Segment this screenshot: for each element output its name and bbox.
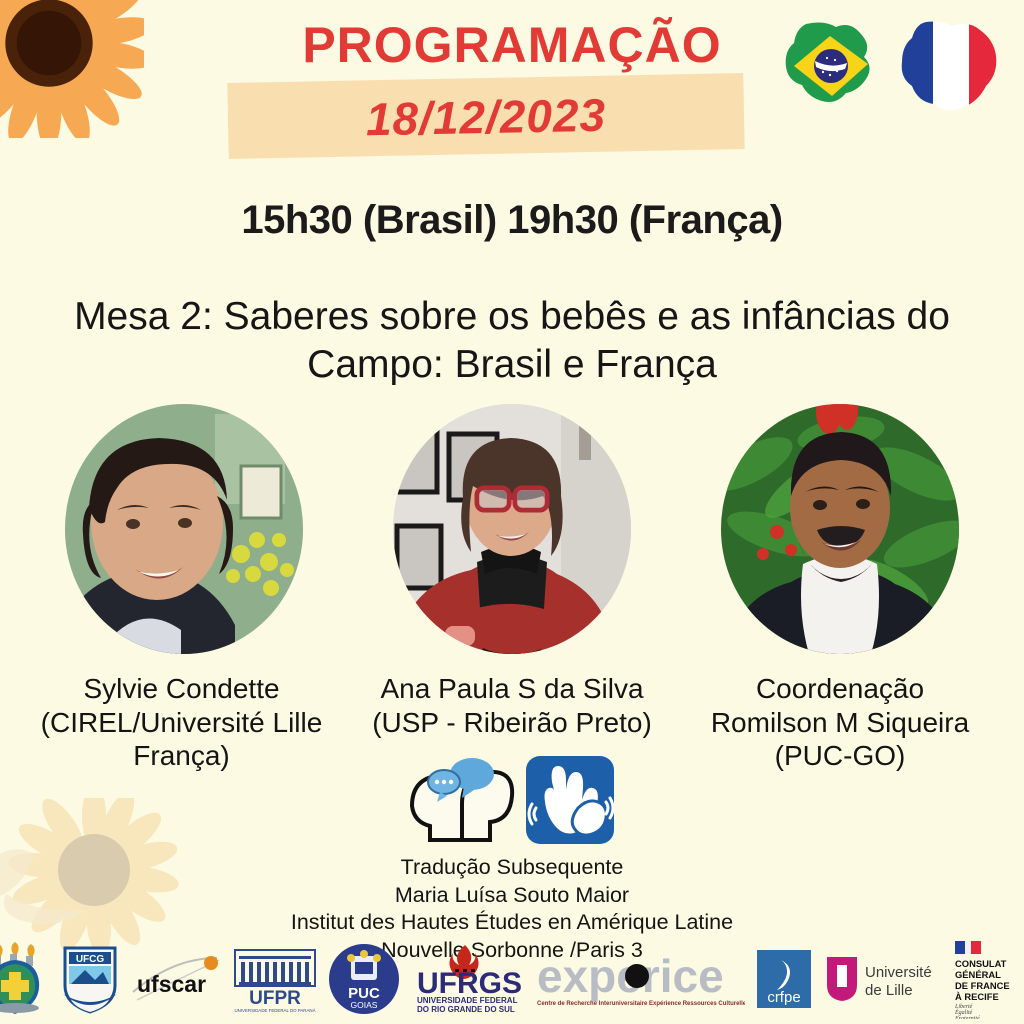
svg-text:Université: Université [865, 964, 932, 981]
svg-text:CONSULAT: CONSULAT [955, 958, 1007, 969]
svg-text:ufscar: ufscar [137, 971, 206, 997]
svg-text:UFPR: UFPR [249, 988, 301, 1009]
speaker-card-romilson-m-siqueira: Coordenação Romilson M Siqueira (PUC-GO) [690, 404, 990, 773]
svg-text:UFCG: UFCG [76, 954, 105, 965]
puc-goias-logo: PUC GOIAS [327, 940, 401, 1018]
experice-logo: experice Centre de Recherche Interuniver… [533, 940, 745, 1018]
sponsor-logos-strip: UFCG ufscar [0, 936, 1024, 1022]
svg-text:Centre de Recherche Interunive: Centre de Recherche Interuniversitaire E… [537, 999, 745, 1007]
event-date: 18/12/2023 [227, 81, 744, 153]
speakers-row: Sylvie Condette (CIREL/Université Lille … [0, 404, 1024, 773]
speaker-card-sylvie-condette: Sylvie Condette (CIREL/Université Lille … [34, 404, 334, 773]
page-title: PROGRAMAÇÃO [0, 20, 1024, 70]
ufcg-logo: UFCG [59, 940, 121, 1018]
accessibility-block: Tradução Subsequente Maria Luísa Souto M… [0, 752, 1024, 964]
session-title: Mesa 2: Saberes sobre os bebês e as infâ… [70, 293, 954, 388]
ana-paula-s-da-silva-photo [393, 404, 631, 654]
ufscar-logo: ufscar [131, 940, 223, 1018]
svg-text:Fraternité: Fraternité [954, 1016, 980, 1019]
svg-text:GOIAS: GOIAS [351, 1000, 378, 1010]
ufpr-logo: UFPR UNIVERSIDADE FEDERAL DO PARANÁ [233, 940, 317, 1018]
svg-text:DO RIO GRANDE DO SUL: DO RIO GRANDE DO SUL [417, 1005, 515, 1014]
svg-text:À RECIFE: À RECIFE [955, 991, 999, 1002]
ufba-logo [0, 940, 49, 1018]
crfpe-logo: crfpe [755, 940, 813, 1018]
sylvie-condette-photo [65, 404, 303, 654]
consulat-general-de-france-a-recife-logo: CONSULAT GÉNÉRAL DE FRANCE À RECIFE Libe… [951, 940, 1024, 1018]
speaker-card-ana-paula-s-da-silva: Ana Paula S da Silva (USP - Ribeirão Pre… [362, 404, 662, 773]
interpretation-icon [406, 754, 516, 846]
event-poster: PROGRAMAÇÃO 18/12/2023 15h30 (Brasil) 19… [0, 0, 1024, 1024]
svg-text:UNIVERSIDADE FEDERAL: UNIVERSIDADE FEDERAL [417, 996, 518, 1005]
svg-text:de Lille: de Lille [865, 982, 913, 999]
accessibility-icons [406, 752, 618, 848]
svg-text:Égalité: Égalité [954, 1008, 973, 1016]
event-time: 15h30 (Brasil) 19h30 (França) [0, 198, 1024, 243]
ufrgs-logo: UFRGS UNIVERSIDADE FEDERAL DO RIO GRANDE… [411, 940, 523, 1018]
svg-text:DE FRANCE: DE FRANCE [955, 980, 1010, 991]
romilson-m-siqueira-photo [721, 404, 959, 654]
svg-text:UNIVERSIDADE FEDERAL DO PARANÁ: UNIVERSIDADE FEDERAL DO PARANÁ [235, 1008, 316, 1013]
speaker-caption: Ana Paula S da Silva (USP - Ribeirão Pre… [362, 672, 662, 739]
universite-de-lille-logo: Université de Lille [823, 940, 941, 1018]
svg-text:crfpe: crfpe [767, 989, 800, 1006]
svg-text:GÉNÉRAL: GÉNÉRAL [955, 969, 1001, 980]
sign-language-icon [522, 752, 618, 848]
